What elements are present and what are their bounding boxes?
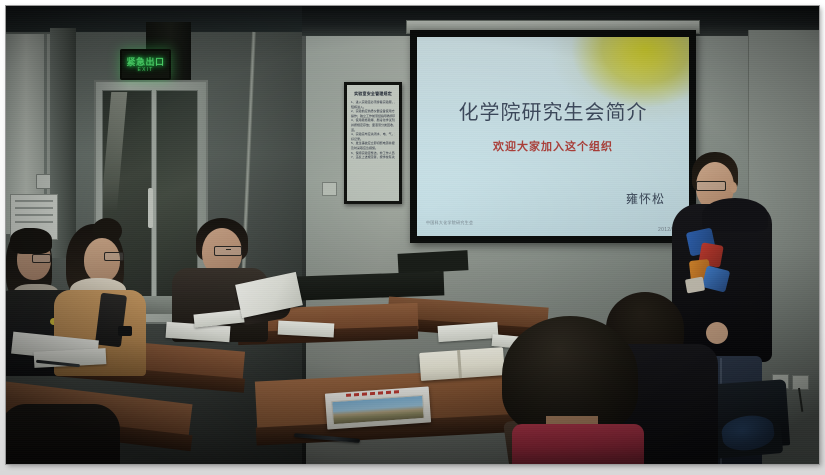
glasses-icon [104,252,124,261]
graphic-shape [702,265,731,292]
slide-projection-sheen [417,37,689,236]
slide-footer-organisation: 中国科大化学院研究生会 [426,220,473,226]
hoodie-graphic-print [686,230,732,294]
slide-presenter-name: 雍怀松 [626,192,665,206]
graphic-shape [685,277,705,294]
glasses-icon [214,246,242,256]
bench-back [398,250,469,274]
slide-subtitle: 欢迎大家加入这个组织 [417,140,689,153]
door-handle[interactable] [148,188,153,228]
notice-paper: 实验室安全管理规定 1、进入实验室必须穿着实验服，严禁穿拖鞋、 短裤进入。 2、… [347,85,399,201]
wall-notice-board: 实验室安全管理规定 1、进入实验室必须穿着实验服，严禁穿拖鞋、 短裤进入。 2、… [344,82,402,204]
ear [730,182,737,193]
red-jacket-collar [512,424,644,464]
wall-junction-box [322,182,337,196]
open-notebook [419,347,505,381]
glasses-icon [32,254,51,263]
notice-line: 并按规定存放；废液须分类回收，严禁倒入下水 [351,123,395,128]
notice-title: 实验室安全管理规定 [351,91,395,96]
hand [706,322,728,344]
wall-socket[interactable] [792,375,809,390]
exit-sign-chinese-label: 紧急出口 [126,57,164,67]
notice-line: 7、违反上述规定者，按学校有关规定处理。 [351,155,395,160]
photograph: 紧急出口 EXIT 实验室安全管理规定 1、进入实验室必须穿着实验服，严禁穿拖鞋… [6,6,819,464]
emergency-exit-sign-icon: 紧急出口 EXIT [120,49,171,80]
papers-stack [278,321,335,338]
glasses-bridge [226,249,231,250]
photo-frame: 紧急出口 EXIT 实验室安全管理规定 1、进入实验室必须穿着实验服，严禁穿拖鞋… [0,0,825,475]
exit-sign-english-label: EXIT [138,67,154,73]
slide-title: 化学院研究生会简介 [417,101,689,123]
hair-fringe [10,228,52,254]
torso [6,404,120,464]
notice-line: 1、进入实验室必须穿着实验服，严禁穿拖鞋、 [351,100,395,105]
hood [702,198,768,232]
projector-screen: 化学院研究生会简介 欢迎大家加入这个组织 雍怀松 中国科大化学院研究生会 201… [410,30,696,243]
phone[interactable] [118,326,132,336]
presentation-slide: 化学院研究生会简介 欢迎大家加入这个组织 雍怀松 中国科大化学院研究生会 201… [417,37,689,236]
glasses-icon [696,181,726,191]
